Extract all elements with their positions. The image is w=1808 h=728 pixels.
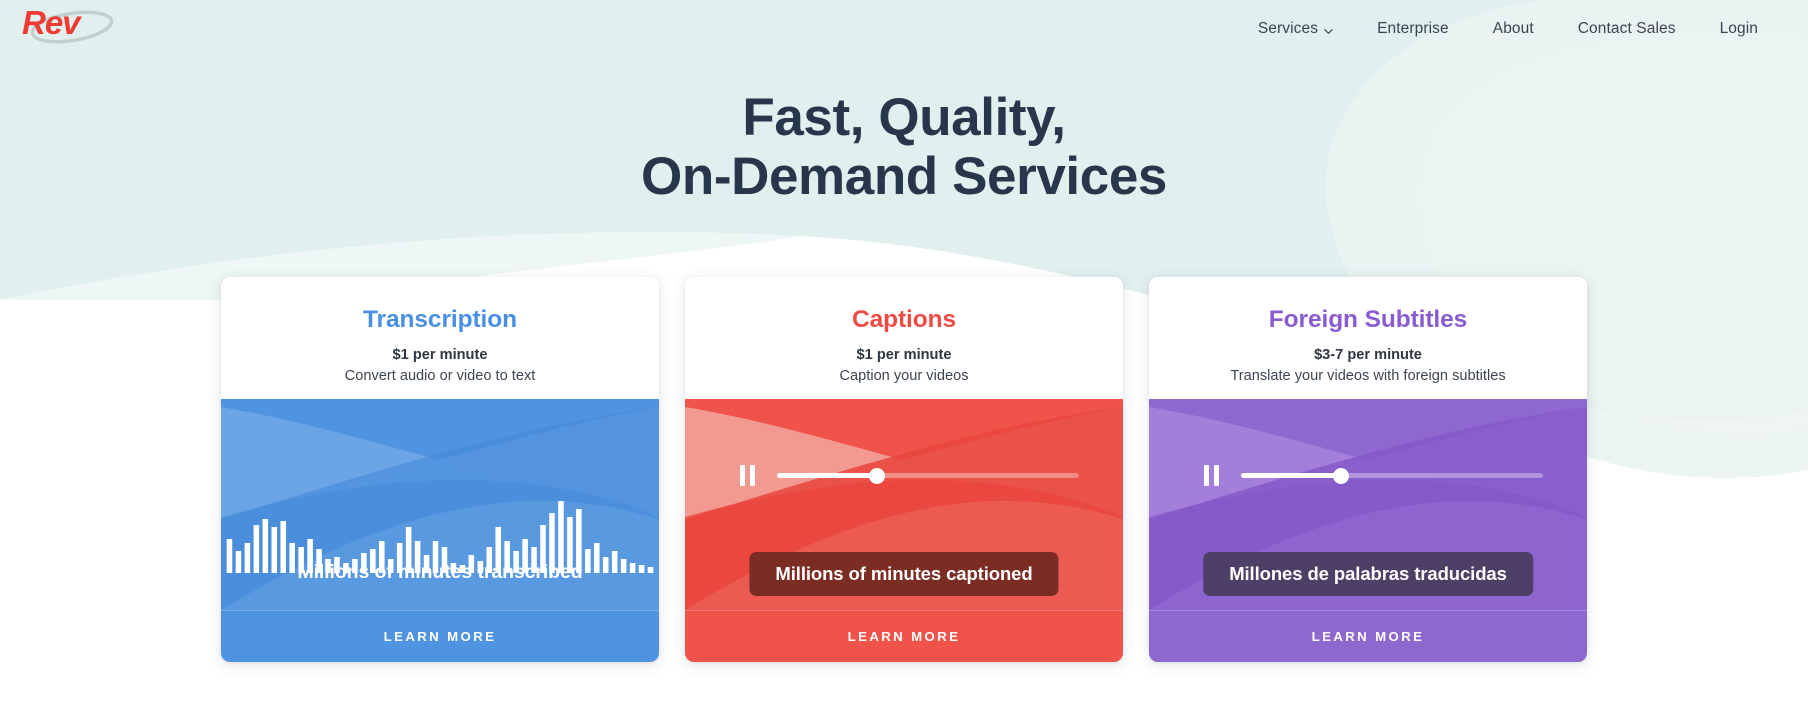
- site-header: Rev Services Enterprise About Contact Sa…: [0, 0, 1808, 62]
- nav-item-label: Enterprise: [1377, 20, 1449, 38]
- progress-slider[interactable]: [777, 468, 1079, 484]
- card-description: Convert audio or video to text: [239, 368, 641, 384]
- nav-item-contact-sales[interactable]: Contact Sales: [1556, 16, 1698, 42]
- media-player-controls-captions: [740, 465, 1079, 486]
- card-media-captions: Millions of minutes captioned: [685, 399, 1123, 610]
- page-title-line-2: On-Demand Services: [0, 147, 1808, 206]
- card-price: $3-7 per minute: [1167, 347, 1569, 363]
- learn-more-button-transcription[interactable]: LEARN MORE: [221, 610, 659, 662]
- card-title: Captions: [703, 306, 1105, 334]
- chevron-down-icon: [1324, 23, 1333, 32]
- nav-item-label: Login: [1720, 20, 1758, 38]
- caption-overlay-text: Millones de palabras traducidas: [1229, 563, 1507, 584]
- card-price: $1 per minute: [239, 347, 641, 363]
- learn-more-button-captions[interactable]: LEARN MORE: [685, 610, 1123, 662]
- slider-fill: [777, 473, 877, 478]
- card-price: $1 per minute: [703, 347, 1105, 363]
- nav-item-label: Services: [1258, 20, 1318, 38]
- nav-item-services[interactable]: Services: [1236, 16, 1355, 42]
- service-card-captions[interactable]: Captions $1 per minute Caption your vide…: [685, 277, 1123, 662]
- pause-icon[interactable]: [1204, 465, 1219, 486]
- nav-item-label: About: [1493, 20, 1534, 38]
- learn-more-label: LEARN MORE: [1312, 629, 1425, 644]
- card-media-foreign-subtitles: Millones de palabras traducidas: [1149, 399, 1587, 610]
- caption-overlay-box: Millions of minutes captioned: [749, 552, 1058, 596]
- slider-fill: [1241, 473, 1341, 478]
- slider-thumb[interactable]: [869, 468, 885, 484]
- card-media-label: Millions of minutes transcribed: [221, 561, 659, 584]
- nav-item-login[interactable]: Login: [1698, 16, 1780, 42]
- progress-slider[interactable]: [1241, 468, 1543, 484]
- card-title: Foreign Subtitles: [1167, 306, 1569, 334]
- caption-overlay-box: Millones de palabras traducidas: [1203, 552, 1533, 596]
- service-card-transcription[interactable]: Transcription $1 per minute Convert audi…: [221, 277, 659, 662]
- card-description: Caption your videos: [703, 368, 1105, 384]
- page-root: Rev Services Enterprise About Contact Sa…: [0, 0, 1808, 728]
- pause-icon[interactable]: [740, 465, 755, 486]
- page-title-line-1: Fast, Quality,: [742, 88, 1065, 147]
- service-card-foreign-subtitles[interactable]: Foreign Subtitles $3-7 per minute Transl…: [1149, 277, 1587, 662]
- learn-more-button-foreign-subtitles[interactable]: LEARN MORE: [1149, 610, 1587, 662]
- nav-item-enterprise[interactable]: Enterprise: [1355, 16, 1471, 42]
- card-header: Transcription $1 per minute Convert audi…: [221, 277, 659, 399]
- card-media-transcription: Millions of minutes transcribed: [221, 399, 659, 610]
- page-title: Fast, Quality, On-Demand Services: [0, 88, 1808, 207]
- service-cards: Transcription $1 per minute Convert audi…: [0, 277, 1808, 662]
- slider-thumb[interactable]: [1333, 468, 1349, 484]
- learn-more-label: LEARN MORE: [384, 629, 497, 644]
- learn-more-label: LEARN MORE: [848, 629, 961, 644]
- card-title: Transcription: [239, 306, 641, 334]
- card-header: Captions $1 per minute Caption your vide…: [685, 277, 1123, 399]
- svg-text:Rev: Rev: [22, 4, 82, 41]
- rev-logo-icon: Rev: [20, 2, 116, 48]
- nav-item-about[interactable]: About: [1471, 16, 1556, 42]
- caption-overlay-text: Millions of minutes captioned: [775, 563, 1032, 584]
- card-description: Translate your videos with foreign subti…: [1167, 368, 1569, 384]
- main-navigation: Services Enterprise About Contact Sales …: [1236, 16, 1780, 42]
- card-header: Foreign Subtitles $3-7 per minute Transl…: [1149, 277, 1587, 399]
- media-player-controls-subtitles: [1204, 465, 1543, 486]
- rev-logo[interactable]: Rev: [20, 2, 116, 48]
- nav-item-label: Contact Sales: [1578, 20, 1676, 38]
